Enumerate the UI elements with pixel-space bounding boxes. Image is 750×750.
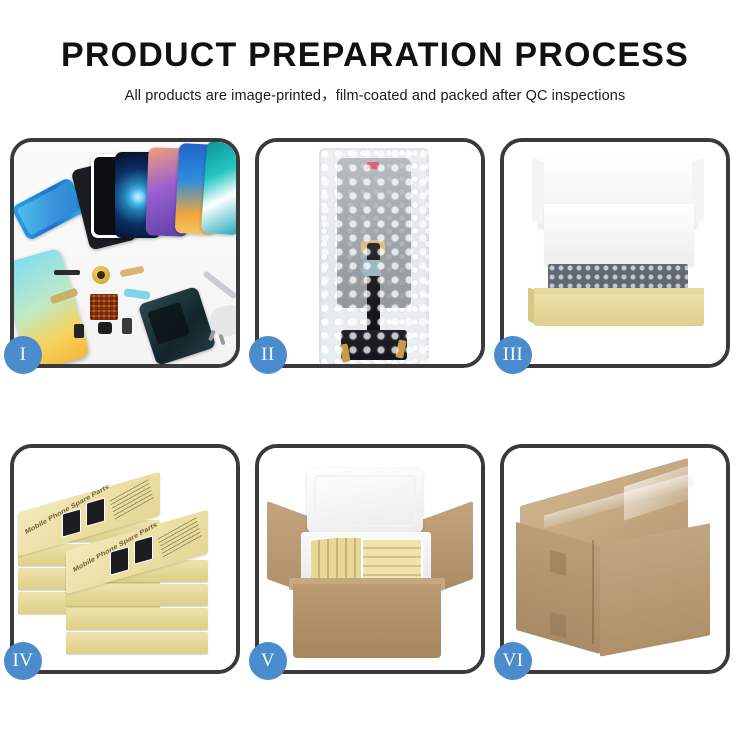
earpiece-speaker-part — [54, 270, 80, 275]
box-screen-image-f2 — [134, 535, 153, 564]
carton-body — [293, 584, 441, 658]
box-spec-lines-front — [158, 517, 203, 560]
yellow-boxes-row-right — [363, 540, 421, 582]
step-badge-2: II — [249, 336, 287, 374]
copper-grid-part — [90, 294, 118, 320]
flex-cable-gold — [120, 266, 145, 278]
step-6-image — [504, 448, 726, 670]
box-stack: Mobile Phone Spare Parts Mobile Phone Sp… — [14, 448, 236, 670]
step-badge-1: I — [4, 336, 42, 374]
step-badge-4: IV — [4, 642, 42, 680]
box-screen-image-f1 — [110, 546, 129, 575]
phones-and-parts-illustration — [14, 142, 236, 364]
step-1-image — [14, 142, 236, 364]
step-5-image — [259, 448, 481, 670]
phone-teal-wallpaper — [201, 142, 236, 235]
step-4-image: Mobile Phone Spare Parts Mobile Phone Sp… — [14, 448, 236, 670]
carton-with-foam-illustration — [259, 448, 481, 670]
page-title: PRODUCT PREPARATION PROCESS — [0, 0, 750, 75]
step-badge-5: V — [249, 642, 287, 680]
process-steps-grid: I II — [10, 138, 740, 674]
yellow-boxes-row-left — [311, 538, 361, 582]
box-spec-lines-back — [110, 479, 155, 522]
foam-cavity — [311, 538, 423, 582]
page-subtitle: All products are image-printed，film-coat… — [0, 75, 750, 105]
foam-lid — [307, 468, 423, 534]
step-3-image — [504, 142, 726, 364]
process-step-panel-1[interactable]: I — [10, 138, 240, 368]
step-badge-3: III — [494, 336, 532, 374]
carton-tab-lower — [550, 612, 566, 639]
tweezers-tool — [202, 270, 236, 299]
process-step-panel-6[interactable]: VI — [500, 444, 730, 674]
bubble-wrapped-screen-illustration — [259, 142, 481, 364]
open-yellow-box-illustration — [504, 142, 726, 364]
carton-tab-upper — [550, 550, 566, 577]
stacked-boxes-illustration: Mobile Phone Spare Parts Mobile Phone Sp… — [14, 448, 236, 670]
step-badge-6: VI — [494, 642, 532, 680]
process-step-panel-5[interactable]: V — [255, 444, 485, 674]
sealed-carton-illustration — [504, 448, 726, 670]
white-foam-sheet — [544, 204, 694, 266]
bubble-wrap-bag — [319, 148, 429, 364]
box-screen-image-b1 — [62, 508, 81, 537]
carton-corner-edge — [592, 540, 594, 644]
battery-part — [122, 318, 132, 334]
box-side-fr-4 — [66, 632, 208, 654]
box-screen-image-b2 — [86, 497, 105, 526]
bubble-texture-overlay — [319, 148, 429, 364]
coil-part — [92, 266, 110, 284]
process-step-panel-3[interactable]: III — [500, 138, 730, 368]
speaker-part — [74, 324, 84, 338]
box-side-fr-3 — [66, 608, 208, 630]
process-step-panel-2[interactable]: II — [255, 138, 485, 368]
page-header: PRODUCT PREPARATION PROCESS All products… — [0, 0, 750, 105]
carton-right-face — [600, 523, 710, 656]
process-step-panel-4[interactable]: Mobile Phone Spare Parts Mobile Phone Sp… — [10, 444, 240, 674]
flex-cable-blue — [124, 288, 151, 300]
camera-module-part — [98, 322, 112, 334]
step-2-image — [259, 142, 481, 364]
box-front-panel — [534, 294, 704, 326]
